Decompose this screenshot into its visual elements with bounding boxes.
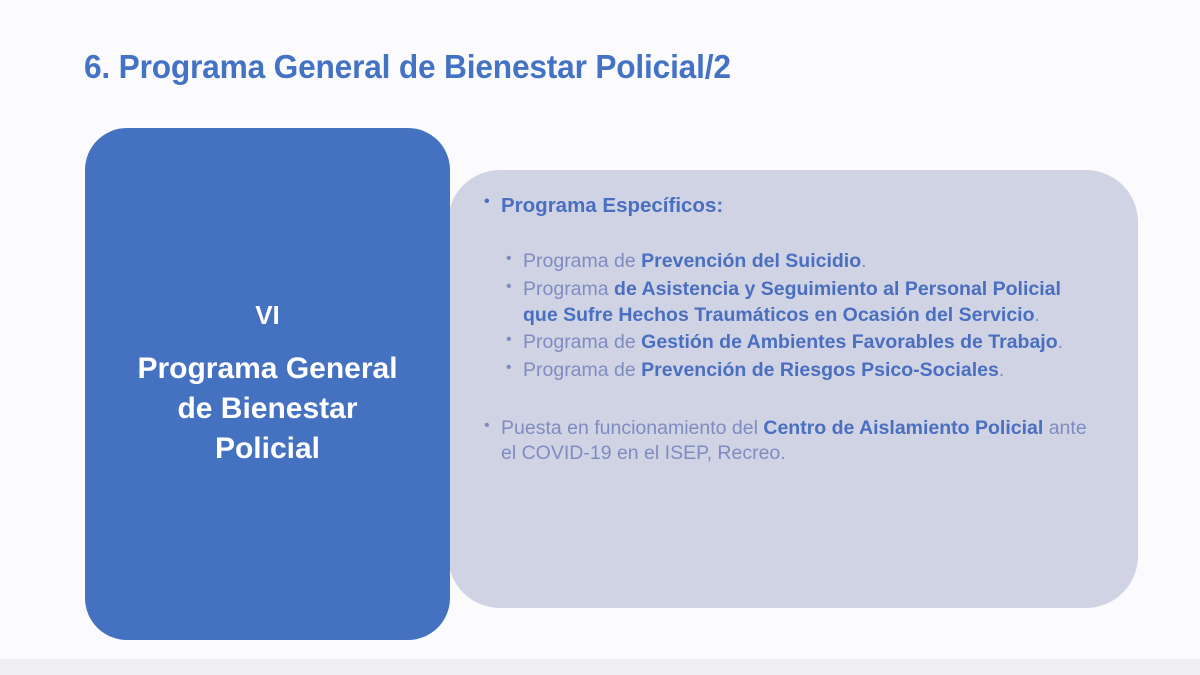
list-item-text-plain: Programa de <box>523 250 641 272</box>
section-card: VI Programa General de Bienestar Policia… <box>85 128 450 640</box>
list-item-text-plain: Programa de <box>523 359 641 381</box>
list-item-text-plain-end: . <box>1058 331 1063 353</box>
list-item-text-plain: Programa <box>523 278 614 300</box>
section-numeral: VI <box>255 300 280 331</box>
sub-bullet-list: Programa de Prevención del Suicidio. Pro… <box>506 249 1098 384</box>
list-item: Programa de Prevención del Suicidio. <box>506 249 1098 275</box>
closing-text-plain: Puesta en funcionamiento del <box>501 417 763 439</box>
page-title: 6. Programa General de Bienestar Policia… <box>84 48 731 86</box>
list-item: Programa de Prevención de Riesgos Psico-… <box>506 358 1098 384</box>
section-title: Programa General de Bienestar Policial <box>115 349 419 469</box>
list-item-text-bold: Prevención del Suicidio <box>641 250 861 272</box>
list-item-text-plain: Programa de <box>523 331 641 353</box>
list-item-text-bold: Prevención de Riesgos Psico-Sociales <box>641 359 999 381</box>
closing-text-bold: Centro de Aislamiento Policial <box>763 417 1043 439</box>
list-item: Programa de Gestión de Ambientes Favorab… <box>506 330 1098 356</box>
content-panel: Programa Específicos: Programa de Preven… <box>448 170 1138 608</box>
bottom-edge-band <box>0 659 1200 675</box>
list-item-closing: Puesta en funcionamiento del Centro de A… <box>484 416 1098 467</box>
section-title-line-3: Policial <box>137 429 397 469</box>
list-item: Programa de Asistencia y Seguimiento al … <box>506 277 1098 328</box>
presentation-slide: 6. Programa General de Bienestar Policia… <box>0 0 1200 675</box>
list-item-heading: Programa Específicos: <box>484 192 1098 219</box>
section-title-line-2: de Bienestar <box>137 389 397 429</box>
list-item-text-plain-end: . <box>999 359 1004 381</box>
bullet-list: Programa Específicos: Programa de Preven… <box>484 192 1098 467</box>
list-item-text-bold: Gestión de Ambientes Favorables de Traba… <box>641 331 1057 353</box>
list-item-text-plain-end: . <box>861 250 866 272</box>
list-item-text-plain-end: . <box>1035 304 1040 326</box>
section-title-line-1: Programa General <box>137 349 397 389</box>
